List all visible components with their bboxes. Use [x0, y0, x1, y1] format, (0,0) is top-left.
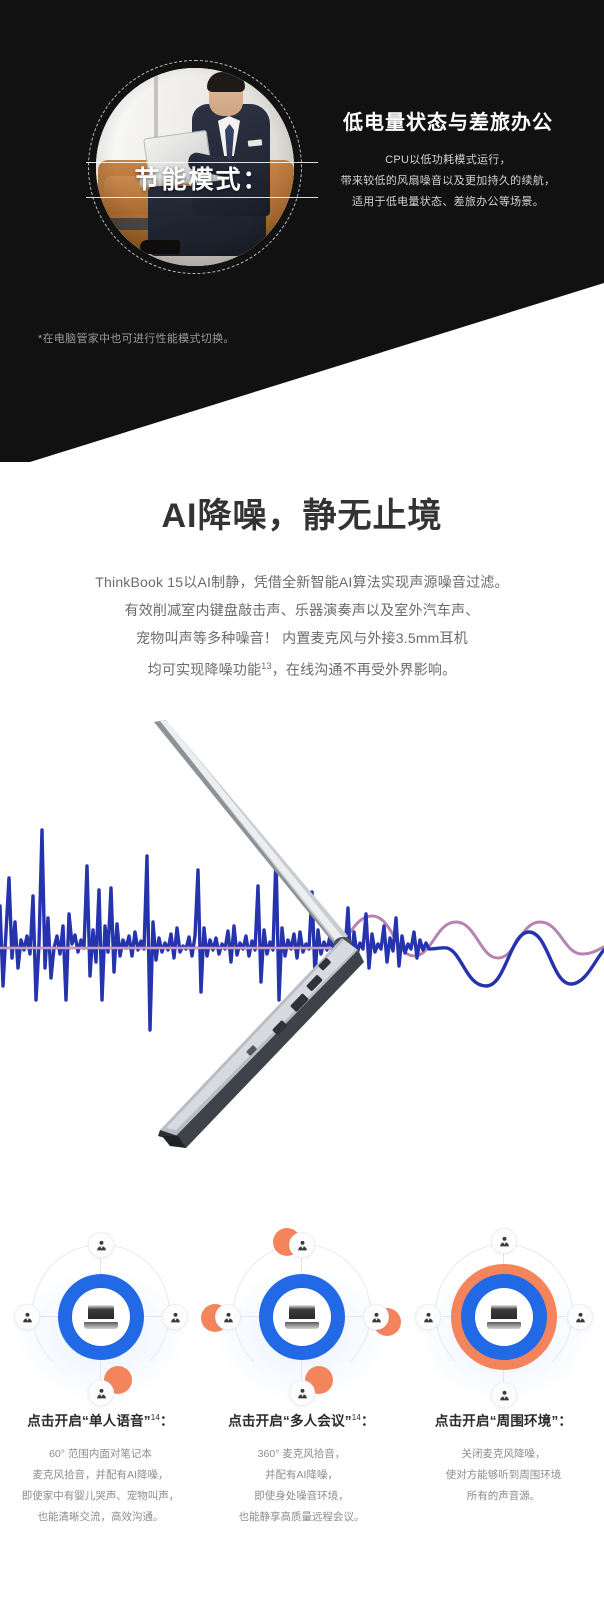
person-icon [289, 1232, 315, 1258]
mic-mode-desc-line-4: 也能清晰交流，高效沟通。 [0, 1507, 201, 1528]
diagram-conference[interactable] [201, 1218, 402, 1408]
dark-hero-panel [0, 0, 604, 462]
laptop-icon-base [487, 1322, 521, 1329]
laptop-icon [487, 1305, 521, 1329]
ai-body-line-3: 宠物叫声等多种噪音！ 内置麦克风与外接3.5mm耳机 [0, 624, 604, 652]
diagram-ambient[interactable] [403, 1218, 604, 1408]
mic-mode-column-single-voice[interactable]: 点击开启“单人语音”14： 60° 范围内面对笔记本 麦克风拾音，并配有AI降噪… [0, 1218, 201, 1528]
mic-ring-center [475, 1288, 533, 1346]
mode-rule-bottom [86, 197, 318, 198]
mic-mode-desc-line-2: 使对方能够听到周围环境 [403, 1465, 604, 1486]
spoke-right [343, 1316, 365, 1317]
spoke-bottom [301, 1358, 302, 1380]
footnote-marker: 14 [151, 1413, 160, 1422]
ai-body-line-4-text: 均可实现降噪功能 [148, 662, 262, 678]
mic-mode-title-colon: ： [361, 1414, 375, 1429]
mic-mode-title: 点击开启“单人语音”14： [0, 1408, 201, 1432]
mode-label-group: 节能模式： [72, 162, 332, 198]
spoke-right [142, 1316, 164, 1317]
mic-mode-desc-line-1: 60° 范围内面对笔记本 [0, 1444, 201, 1465]
mic-mode-desc-line-2: 并配有AI降噪， [201, 1465, 402, 1486]
hero-subtitle-line-1: CPU以低功耗模式运行， [300, 150, 596, 171]
mode-label: 节能模式： [72, 163, 332, 197]
ai-body-line-2: 有效削减室内键盘敲击声、乐器演奏声以及室外汽车声、 [0, 596, 604, 624]
person-icon [363, 1304, 389, 1330]
mic-mode-desc-line-3: 即使身处噪音环境， [201, 1486, 402, 1507]
hero-subtitle-line-2: 带来较低的风扇噪音以及更加持久的续航， [300, 171, 596, 192]
mic-mode-title: 点击开启“多人会议”14： [201, 1408, 402, 1432]
mic-mode-column-conference[interactable]: 点击开启“多人会议”14： 360° 麦克风拾音， 并配有AI降噪， 即使身处噪… [201, 1218, 402, 1528]
person-icon [289, 1380, 315, 1406]
mic-mode-title-colon: ： [160, 1414, 174, 1429]
mic-mode-desc-line-1: 关闭麦克风降噪， [403, 1444, 604, 1465]
person-icon [491, 1228, 517, 1254]
laptop-icon [84, 1305, 118, 1329]
mic-mode-desc-line-3: 即使家中有婴儿哭声、宠物叫声， [0, 1486, 201, 1507]
spoke-bottom [100, 1358, 101, 1380]
hero-subtitle-line-3: 适用于低电量状态、差旅办公等场景。 [300, 192, 596, 213]
hero-subtitle: CPU以低功耗模式运行， 带来较低的风扇噪音以及更加持久的续航， 适用于低电量状… [300, 150, 596, 213]
ai-body-line-1: ThinkBook 15以AI制静，凭借全新智能AI算法实现声源噪音过滤。 [0, 568, 604, 596]
laptop-icon-screen [88, 1305, 114, 1319]
person-icon [215, 1304, 241, 1330]
person-icon [88, 1380, 114, 1406]
ai-body-line-4: 均可实现降噪功能13，在线沟通不再受外界影响。 [0, 652, 604, 684]
mic-mode-description: 关闭麦克风降噪， 使对方能够听到周围环境 所有的声音源。 [403, 1444, 604, 1507]
footnote-marker-13: 13 [261, 661, 271, 671]
mic-mode-desc-line-2: 麦克风拾音，并配有AI降噪， [0, 1465, 201, 1486]
mic-mode-title-text: 点击开启“单人语音” [27, 1414, 151, 1429]
diagram-single-voice[interactable] [0, 1218, 201, 1408]
person-icon [88, 1232, 114, 1258]
laptop-icon-screen [491, 1305, 517, 1319]
mic-mode-title-text: 点击开启“周围环境” [435, 1414, 559, 1429]
person-icon [567, 1304, 593, 1330]
mic-mode-desc-line-1: 360° 麦克风拾音， [201, 1444, 402, 1465]
hero-text-block: 低电量状态与差旅办公 CPU以低功耗模式运行， 带来较低的风扇噪音以及更加持久的… [300, 108, 596, 213]
mic-mode-description: 60° 范围内面对笔记本 麦克风拾音，并配有AI降噪， 即使家中有婴儿哭声、宠物… [0, 1444, 201, 1528]
waveform-illustration [0, 700, 604, 1190]
person-icon [14, 1304, 40, 1330]
mic-mode-desc-line-4: 也能静享高质量远程会议。 [201, 1507, 402, 1528]
mic-mode-desc-line-3: 所有的声音源。 [403, 1486, 604, 1507]
laptop-icon [285, 1305, 319, 1329]
mic-ring-center [72, 1288, 130, 1346]
mic-mode-column-ambient[interactable]: 点击开启“周围环境”： 关闭麦克风降噪， 使对方能够听到周围环境 所有的声音源。 [403, 1218, 604, 1507]
person-icon [162, 1304, 188, 1330]
mic-mode-title-text: 点击开启“多人会议” [228, 1414, 352, 1429]
mic-mode-title-colon: ： [558, 1414, 572, 1429]
hero-title: 低电量状态与差旅办公 [300, 108, 596, 138]
product-page: 节能模式： 低电量状态与差旅办公 CPU以低功耗模式运行， 带来较低的风扇噪音以… [0, 0, 604, 1600]
ai-section-heading: AI降噪，静无止境 [0, 488, 604, 537]
footnote-marker: 14 [352, 1413, 361, 1422]
mic-mode-title: 点击开启“周围环境”： [403, 1408, 604, 1432]
mic-mode-description: 360° 麦克风拾音， 并配有AI降噪， 即使身处噪音环境， 也能静享高质量远程… [201, 1444, 402, 1528]
ai-section-body: ThinkBook 15以AI制静，凭借全新智能AI算法实现声源噪音过滤。 有效… [0, 568, 604, 684]
laptop-icon-screen [289, 1305, 315, 1319]
mic-ring-center [273, 1288, 331, 1346]
hero-footnote: *在电脑管家中也可进行性能模式切换。 [38, 330, 235, 346]
person-icon [491, 1382, 517, 1408]
waveform-svg [0, 700, 604, 1190]
spoke-bottom [503, 1368, 504, 1382]
person-icon [415, 1304, 441, 1330]
ai-body-line-4-tail: ，在线沟通不再受外界影响。 [272, 662, 457, 678]
laptop-icon-base [285, 1322, 319, 1329]
laptop-icon-base [84, 1322, 118, 1329]
